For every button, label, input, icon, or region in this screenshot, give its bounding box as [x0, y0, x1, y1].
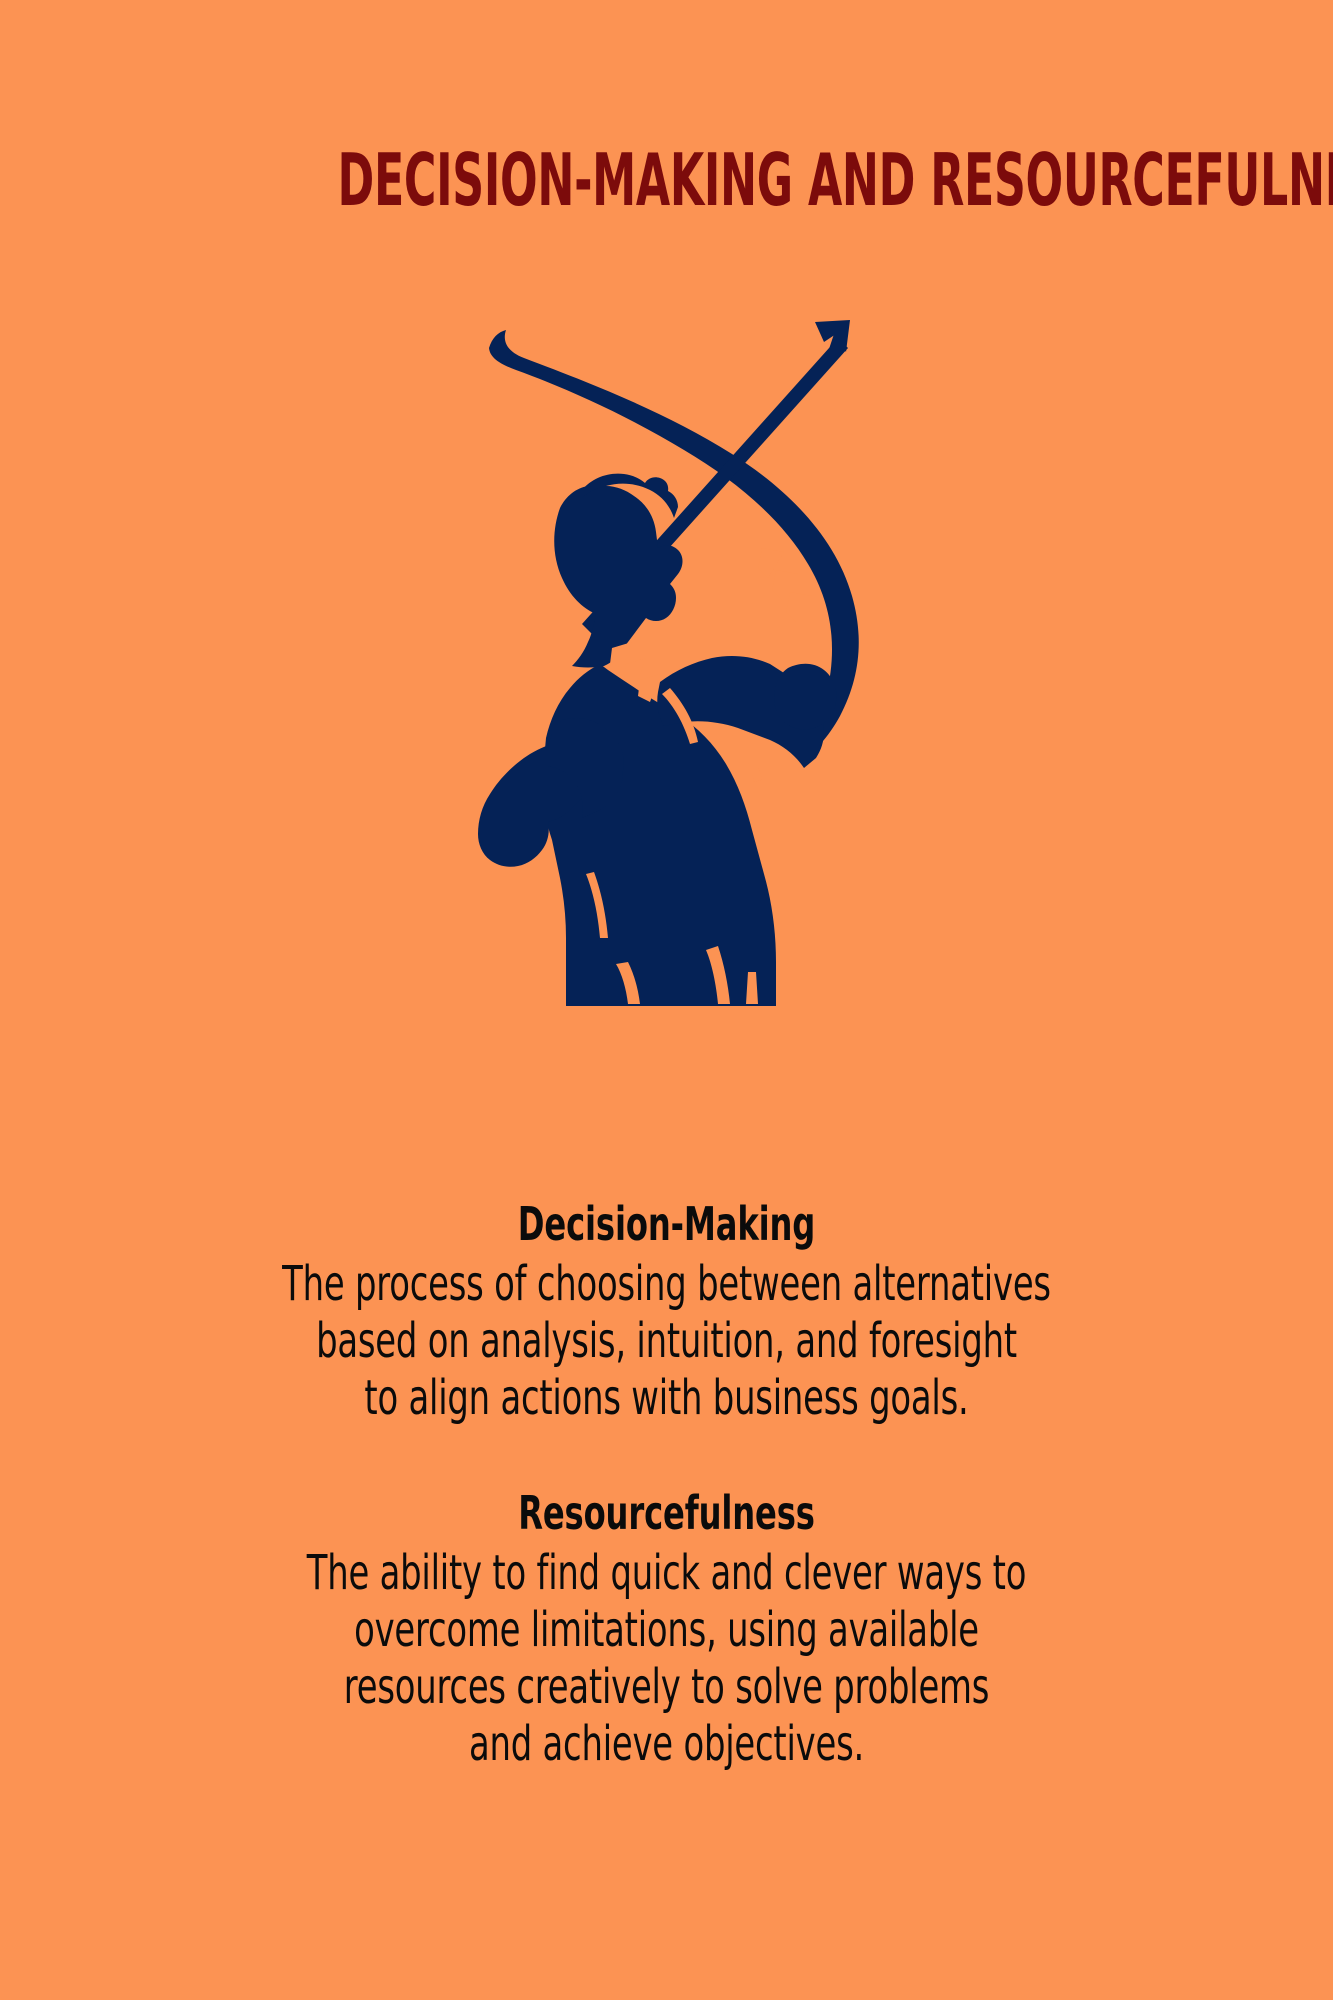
- page-title: Decision-Making and Resourcefulness: [338, 144, 1333, 216]
- page-title-container: Decision-Making and Resourcefulness: [0, 96, 1333, 264]
- section-decision-making: Decision-Making The process of choosing …: [0, 1196, 1333, 1427]
- archer-illustration: [0, 312, 1333, 1042]
- poster-canvas: Decision-Making and Resourcefulness: [0, 0, 1333, 2000]
- section-body-line: The process of choosing between alternat…: [197, 1256, 1137, 1313]
- section-heading-decision-making: Decision-Making: [200, 1196, 1133, 1252]
- section-body-line: The ability to find quick and clever way…: [197, 1545, 1137, 1602]
- section-body-line: resources creatively to solve problems: [197, 1659, 1137, 1716]
- section-body-line: and achieve objectives.: [197, 1716, 1137, 1773]
- archer-silhouette-icon: [432, 312, 902, 1030]
- section-resourcefulness: Resourcefulness The ability to find quic…: [0, 1485, 1333, 1773]
- body-copy: Decision-Making The process of choosing …: [0, 1196, 1333, 1773]
- section-heading-resourcefulness: Resourcefulness: [200, 1485, 1133, 1541]
- section-body-line: to align actions with business goals.: [197, 1370, 1137, 1427]
- section-body-line: overcome limitations, using available: [197, 1602, 1137, 1659]
- section-body-line: based on analysis, intuition, and foresi…: [197, 1313, 1137, 1370]
